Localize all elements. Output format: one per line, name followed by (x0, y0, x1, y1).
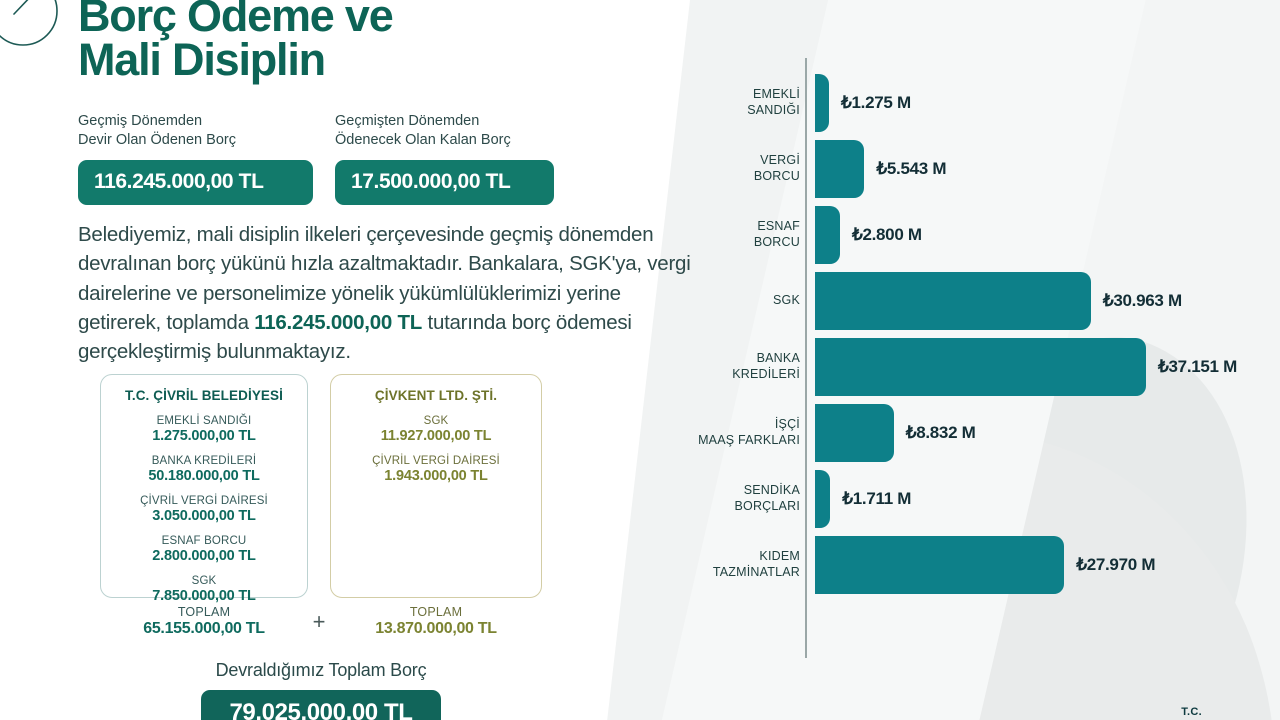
item-value: 1.943.000,00 TL (341, 468, 531, 484)
description-paragraph: Belediyemiz, mali disiplin ilkeleri çerç… (78, 220, 692, 367)
chart-bar-label: KIDEM TAZMİNATLAR (660, 549, 808, 580)
total-value: 13.870.000,00 TL (330, 620, 542, 638)
paragraph-highlight-amount: 116.245.000,00 TL (254, 311, 422, 334)
circular-arrow-icon (0, 0, 62, 50)
item-value: 1.275.000,00 TL (111, 428, 297, 444)
chart-bar (815, 404, 894, 462)
chart-bar-value: ₺5.543 M (876, 159, 946, 179)
chart-bar-label: SENDİKA BORÇLARI (660, 483, 808, 514)
item-value: 11.927.000,00 TL (341, 428, 531, 444)
grand-total-label: Devraldığımız Toplam Borç (100, 660, 542, 681)
card-title-civkent-ltd: ÇİVKENT LTD. ŞTİ. (341, 388, 531, 403)
item-label: SGK (341, 415, 531, 427)
tc-watermark: T.C. (1181, 706, 1202, 718)
total-civkent-ltd: TOPLAM 13.870.000,00 TL (330, 605, 542, 638)
chart-bar-row: KIDEM TAZMİNATLAR₺27.970 M (660, 532, 1155, 598)
chart-bar (815, 536, 1064, 594)
item-value: 3.050.000,00 TL (111, 508, 297, 524)
stat-value-remaining-debt: 17.500.000,00 TL (335, 160, 554, 205)
item-label: EMEKLİ SANDIĞI (111, 415, 297, 427)
item-value: 7.850.000,00 TL (111, 588, 297, 604)
chart-bar-value: ₺2.800 M (852, 225, 922, 245)
total-civril-belediyesi: TOPLAM 65.155.000,00 TL (100, 605, 308, 638)
grand-total-block: Devraldığımız Toplam Borç 79.025.000,00 … (100, 660, 542, 720)
item-label: SGK (111, 575, 297, 587)
list-item: ÇİVRİL VERGİ DAİRESİ 1.943.000,00 TL (341, 455, 531, 484)
page-title: Borç Ödeme ve Mali Disiplin (78, 0, 638, 82)
list-item: SGK 11.927.000,00 TL (341, 415, 531, 444)
item-value: 50.180.000,00 TL (111, 468, 297, 484)
card-civril-belediyesi: T.C. ÇİVRİL BELEDİYESİ EMEKLİ SANDIĞI 1.… (100, 374, 308, 598)
page-title-line-2: Mali Disiplin (78, 38, 638, 82)
stat-value-paid-debt: 116.245.000,00 TL (78, 160, 313, 205)
chart-bar-value: ₺27.970 M (1076, 555, 1155, 575)
chart-bar-label: İŞÇİ MAAŞ FARKLARI (660, 417, 808, 448)
list-item: EMEKLİ SANDIĞI 1.275.000,00 TL (111, 415, 297, 444)
chart-bar-row: ESNAF BORCU₺2.800 M (660, 202, 922, 268)
chart-bar-value: ₺1.275 M (841, 93, 911, 113)
item-label: ESNAF BORCU (111, 535, 297, 547)
item-label: ÇİVRİL VERGİ DAİRESİ (111, 495, 297, 507)
item-value: 2.800.000,00 TL (111, 548, 297, 564)
chart-bar-row: İŞÇİ MAAŞ FARKLARI₺8.832 M (660, 400, 976, 466)
chart-bar-value: ₺1.711 M (842, 489, 911, 509)
chart-bar-row: VERGİ BORCU₺5.543 M (660, 136, 946, 202)
list-item: ESNAF BORCU 2.800.000,00 TL (111, 535, 297, 564)
chart-bar-label: ESNAF BORCU (660, 219, 808, 250)
stat-block-remaining-debt: Geçmişten Dönemden Ödenecek Olan Kalan B… (335, 112, 554, 205)
item-label: ÇİVRİL VERGİ DAİRESİ (341, 455, 531, 467)
list-item: SGK 7.850.000,00 TL (111, 575, 297, 604)
chart-bar (815, 470, 830, 528)
stat-caption-paid-debt: Geçmiş Dönemden Devir Olan Ödenen Borç (78, 112, 313, 151)
chart-bar-row: BANKA KREDİLERİ₺37.151 M (660, 334, 1237, 400)
card-totals-row: TOPLAM 65.155.000,00 TL + TOPLAM 13.870.… (100, 605, 542, 638)
debt-bar-chart: EMEKLİ SANDIĞI₺1.275 MVERGİ BORCU₺5.543 … (660, 58, 1280, 668)
card-title-civril-belediyesi: T.C. ÇİVRİL BELEDİYESİ (111, 388, 297, 403)
chart-bar-label: EMEKLİ SANDIĞI (660, 87, 808, 118)
chart-bar (815, 206, 840, 264)
chart-bar (815, 272, 1091, 330)
stat-block-paid-debt: Geçmiş Dönemden Devir Olan Ödenen Borç 1… (78, 112, 313, 205)
total-label: TOPLAM (330, 605, 542, 619)
total-label: TOPLAM (100, 605, 308, 619)
chart-bar-label: BANKA KREDİLERİ (660, 351, 808, 382)
chart-bar-row: EMEKLİ SANDIĞI₺1.275 M (660, 70, 911, 136)
grand-total-value: 79.025.000,00 TL (201, 690, 440, 720)
card-civkent-ltd: ÇİVKENT LTD. ŞTİ. SGK 11.927.000,00 TL Ç… (330, 374, 542, 598)
chart-bar-row: SGK₺30.963 M (660, 268, 1182, 334)
chart-bar-value: ₺8.832 M (906, 423, 976, 443)
debt-breakdown-cards: T.C. ÇİVRİL BELEDİYESİ EMEKLİ SANDIĞI 1.… (100, 374, 542, 598)
stat-caption-remaining-debt: Geçmişten Dönemden Ödenecek Olan Kalan B… (335, 112, 554, 151)
list-item: BANKA KREDİLERİ 50.180.000,00 TL (111, 455, 297, 484)
highlight-stats: Geçmiş Dönemden Devir Olan Ödenen Borç 1… (78, 112, 554, 205)
item-label: BANKA KREDİLERİ (111, 455, 297, 467)
plus-icon: + (308, 609, 330, 635)
infographic-canvas: Borç Ödeme ve Mali Disiplin Geçmiş Dönem… (0, 0, 1280, 720)
chart-bar-value: ₺37.151 M (1158, 357, 1237, 377)
chart-bar (815, 140, 864, 198)
chart-bar-label: VERGİ BORCU (660, 153, 808, 184)
chart-bar-label: SGK (660, 293, 808, 309)
chart-bar (815, 338, 1146, 396)
list-item: ÇİVRİL VERGİ DAİRESİ 3.050.000,00 TL (111, 495, 297, 524)
chart-bar-value: ₺30.963 M (1103, 291, 1182, 311)
chart-bar-row: SENDİKA BORÇLARI₺1.711 M (660, 466, 911, 532)
total-value: 65.155.000,00 TL (100, 620, 308, 638)
chart-bar (815, 74, 829, 132)
